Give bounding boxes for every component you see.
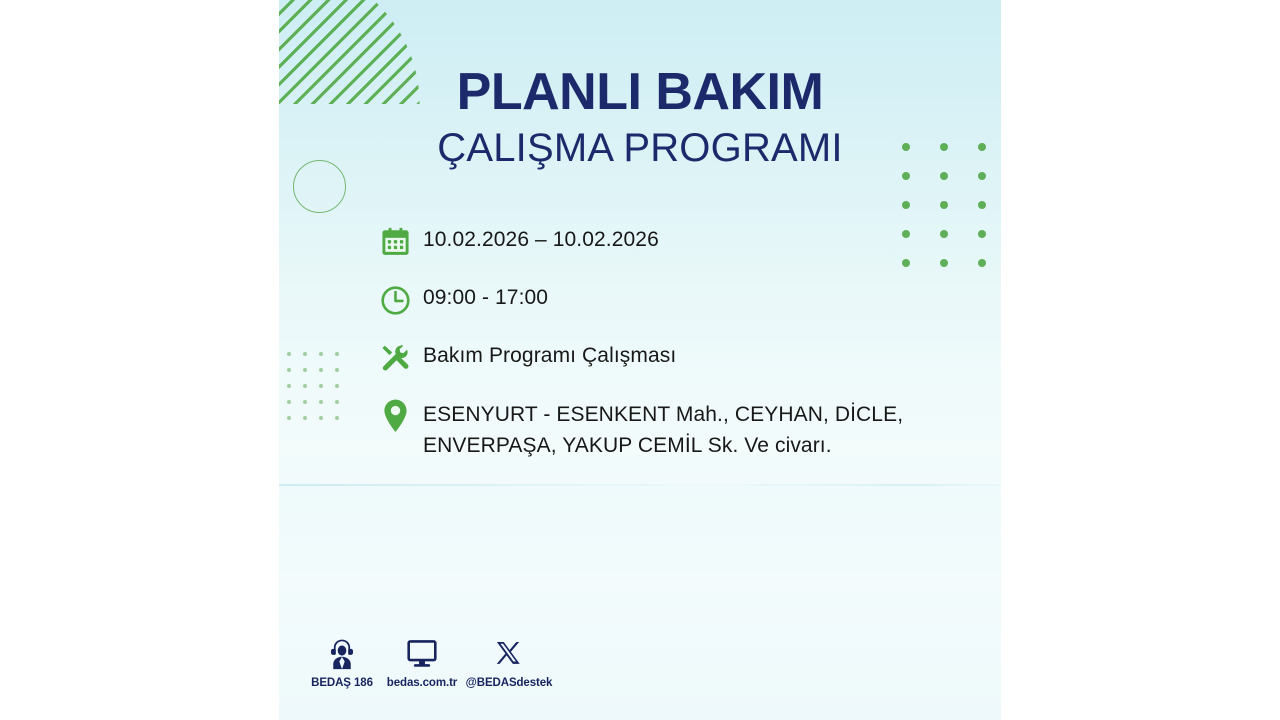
date-range-text: 10.02.2026 – 10.02.2026 (423, 222, 659, 255)
info-row-time: 09:00 - 17:00 (379, 280, 939, 320)
location-text: ESENYURT - ESENKENT Mah., CEYHAN, DİCLE,… (423, 396, 903, 461)
announcement-card: PLANLI BAKIM ÇALIŞMA PROGRAMI (279, 0, 1001, 720)
tools-icon (379, 338, 423, 378)
location-pin-icon (379, 396, 423, 436)
poster-canvas: PLANLI BAKIM ÇALIŞMA PROGRAMI (0, 0, 1280, 720)
dot-grid-left-decoration (287, 352, 351, 432)
info-row-worktype: Bakım Programı Çalışması (379, 338, 939, 378)
x-twitter-icon (454, 635, 564, 673)
footer-bar: BEDAŞ 186 bedas.com.tr (279, 635, 1001, 720)
info-list: 10.02.2026 – 10.02.2026 09:00 - 17:00 (379, 222, 939, 479)
location-line-2: ENVERPAŞA, YAKUP CEMİL Sk. Ve civarı. (423, 434, 832, 457)
page-subtitle: ÇALIŞMA PROGRAMI (279, 128, 1001, 168)
footer-item-x-account[interactable]: @BEDASdestek (454, 635, 564, 689)
info-row-location: ESENYURT - ESENKENT Mah., CEYHAN, DİCLE,… (379, 396, 939, 461)
footer-label-x-account: @BEDASdestek (454, 677, 564, 689)
info-row-date: 10.02.2026 – 10.02.2026 (379, 222, 939, 262)
work-type-text: Bakım Programı Çalışması (423, 338, 676, 371)
page-title: PLANLI BAKIM (279, 66, 1001, 118)
clock-icon (379, 280, 423, 320)
time-range-text: 09:00 - 17:00 (423, 280, 548, 313)
calendar-icon (379, 222, 423, 262)
location-line-1: ESENYURT - ESENKENT Mah., CEYHAN, DİCLE, (423, 403, 903, 426)
